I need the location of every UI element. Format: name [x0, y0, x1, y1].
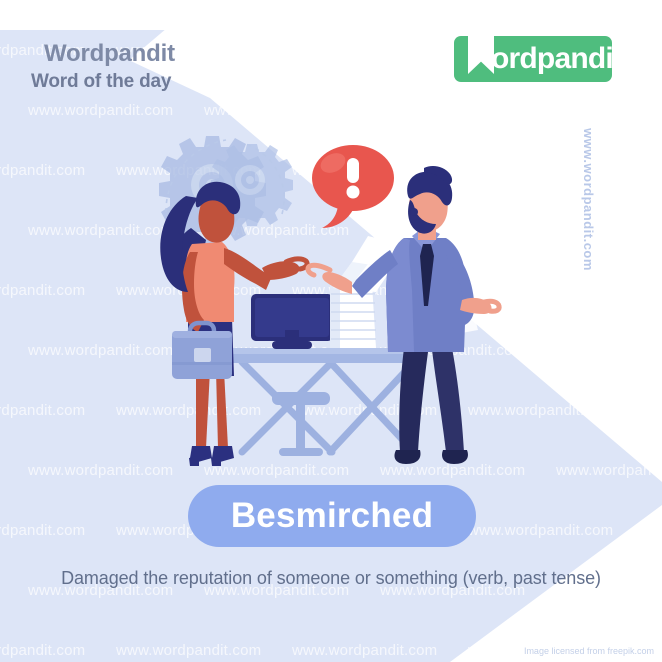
exclamation-icon — [347, 158, 360, 199]
page-title: Wordpandit — [44, 40, 175, 68]
wordpandit-logo[interactable]: ordpandit — [454, 36, 612, 82]
stool — [272, 392, 330, 456]
word-of-the-day-card: www.wordpandit.comwww.wordpandit.comwww.… — [0, 0, 662, 662]
image-credit: Image licensed from freepik.com — [524, 646, 654, 656]
word-definition: Damaged the reputation of someone or som… — [0, 568, 662, 589]
word-banner: Besmirched — [188, 485, 476, 547]
speech-bubble — [312, 145, 394, 228]
page-subtitle: Word of the day — [31, 71, 171, 93]
briefcase — [172, 323, 232, 379]
word-of-the-day: Besmirched — [231, 496, 433, 536]
desk — [228, 348, 420, 456]
logo-text: ordpandit — [491, 42, 622, 76]
computer-monitor — [251, 294, 333, 349]
illustration — [0, 0, 662, 662]
